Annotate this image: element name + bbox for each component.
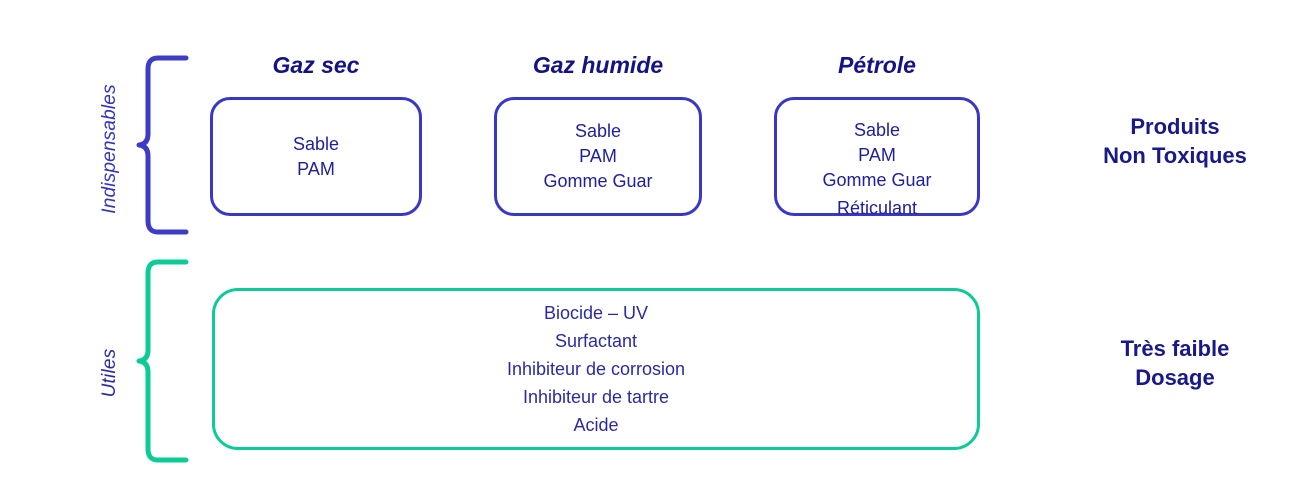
box-item: Biocide – UV: [544, 299, 648, 327]
box-item: Acide: [573, 411, 618, 439]
box-item: Réticulant: [837, 196, 917, 221]
box-item: Sable: [575, 119, 621, 144]
group-label-indispensables: Indispensables: [99, 49, 121, 249]
brace-indispensables: [130, 54, 190, 236]
diagram-canvas: Indispensables Utiles Gaz sec Gaz humide…: [0, 0, 1301, 491]
box-item: Sable: [854, 118, 900, 143]
column-title-petrole: Pétrole: [774, 52, 980, 79]
column-title-gaz-humide: Gaz humide: [494, 52, 702, 79]
box-item: PAM: [579, 144, 617, 169]
note-produits-non-toxiques: Produits Non Toxiques: [1060, 112, 1290, 170]
box-petrole: Sable PAM Gomme Guar Réticulant: [774, 97, 980, 216]
box-item: Surfactant: [555, 327, 637, 355]
box-item: Gomme Guar: [543, 169, 652, 194]
note-line: Dosage: [1060, 363, 1290, 392]
note-line: Produits: [1060, 112, 1290, 141]
box-item: Gomme Guar: [822, 168, 931, 193]
note-tres-faible-dosage: Très faible Dosage: [1060, 334, 1290, 392]
box-item: PAM: [297, 157, 335, 182]
group-label-utiles: Utiles: [99, 298, 121, 448]
note-line: Non Toxiques: [1060, 141, 1290, 170]
note-line: Très faible: [1060, 334, 1290, 363]
box-item: Inhibiteur de corrosion: [507, 355, 685, 383]
box-utiles: Biocide – UV Surfactant Inhibiteur de co…: [212, 288, 980, 450]
box-gaz-humide: Sable PAM Gomme Guar: [494, 97, 702, 216]
brace-utiles: [130, 258, 190, 464]
box-item: Sable: [293, 132, 339, 157]
box-item: PAM: [858, 143, 896, 168]
box-item: Inhibiteur de tartre: [523, 383, 669, 411]
box-gaz-sec: Sable PAM: [210, 97, 422, 216]
column-title-gaz-sec: Gaz sec: [210, 52, 422, 79]
